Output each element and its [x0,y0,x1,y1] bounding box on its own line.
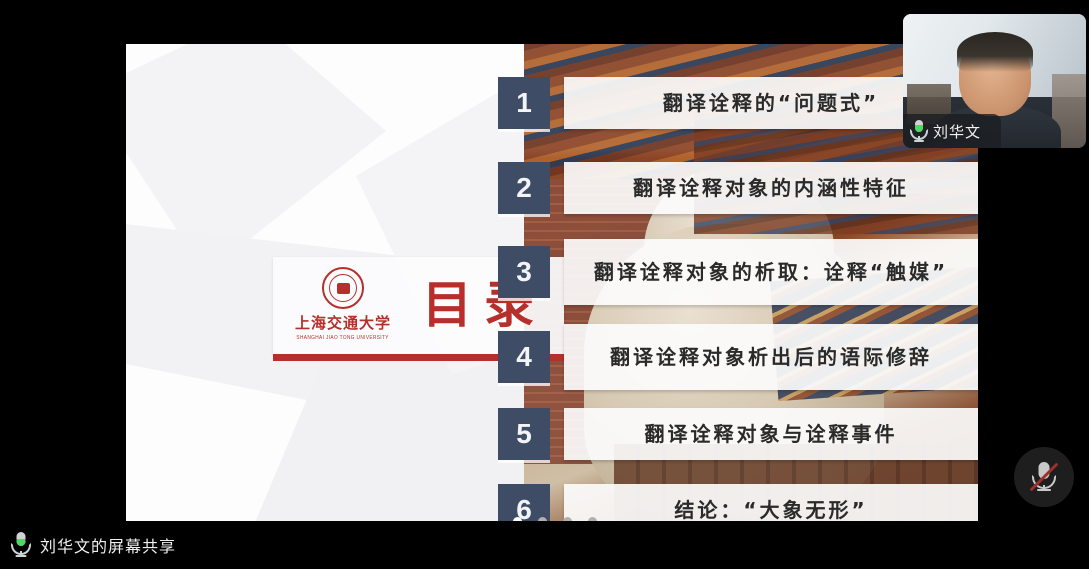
meeting-window: 上海交通大学 SHANGHAI JIAO TONG UNIVERSITY 目录 … [0,0,1089,569]
sjtu-seal-icon [322,267,364,309]
screen-share-status-label: 刘华文的屏幕共享 [40,533,176,557]
agenda-row[interactable]: 5 翻译诠释对象与诠释事件 [498,408,978,460]
agenda-number-badge: 4 [498,331,550,383]
agenda-number-badge: 2 [498,162,550,214]
agenda-card[interactable]: 翻译诠释对象与诠释事件 [564,408,978,460]
participant-name: 刘华文 [933,121,981,142]
agenda-item-label: 翻译诠释的“问题式” [663,89,879,117]
sjtu-logo: 上海交通大学 SHANGHAI JIAO TONG UNIVERSITY [287,267,399,345]
video-person-hair [957,32,1033,72]
microphone-icon[interactable] [12,532,30,558]
agenda-card[interactable]: 翻译诠释对象的内涵性特征 [564,162,978,214]
microphone-icon [911,120,927,142]
agenda-item-label: 翻译诠释对象的内涵性特征 [633,174,909,202]
agenda-card[interactable]: 结论：“大象无形” [564,484,978,521]
agenda-row[interactable]: 6 结论：“大象无形” [498,484,978,521]
agenda-card[interactable]: 翻译诠释对象的析取：诠释“触媒” [564,239,978,305]
agenda-number-badge: 6 [498,484,550,521]
status-bar: 刘华文的屏幕共享 [0,521,1089,569]
shared-screen-slide[interactable]: 上海交通大学 SHANGHAI JIAO TONG UNIVERSITY 目录 … [126,44,978,521]
agenda-number-badge: 5 [498,408,550,460]
agenda-item-label: 结论：“大象无形” [674,496,867,521]
mute-toggle-button[interactable] [1014,447,1074,507]
agenda-row[interactable]: 2 翻译诠释对象的内涵性特征 [498,162,978,214]
agenda-item-label: 翻译诠释对象析出后的语际修辞 [610,343,932,371]
agenda-number-badge: 1 [498,77,550,129]
agenda-number-badge: 3 [498,246,550,298]
sjtu-name-cn: 上海交通大学 [295,312,391,333]
agenda-item-label: 翻译诠释对象与诠释事件 [645,420,898,448]
sjtu-name-en: SHANGHAI JIAO TONG UNIVERSITY [297,335,389,341]
participant-video-tile[interactable]: 刘华文 [903,14,1086,148]
agenda-item-label: 翻译诠释对象的析取：诠释“触媒” [594,258,948,286]
agenda-row[interactable]: 3 翻译诠释对象的析取：诠释“触媒” [498,239,978,305]
participant-name-badge: 刘华文 [903,114,1001,148]
agenda-row[interactable]: 4 翻译诠释对象析出后的语际修辞 [498,324,978,390]
agenda-card[interactable]: 翻译诠释对象析出后的语际修辞 [564,324,978,390]
